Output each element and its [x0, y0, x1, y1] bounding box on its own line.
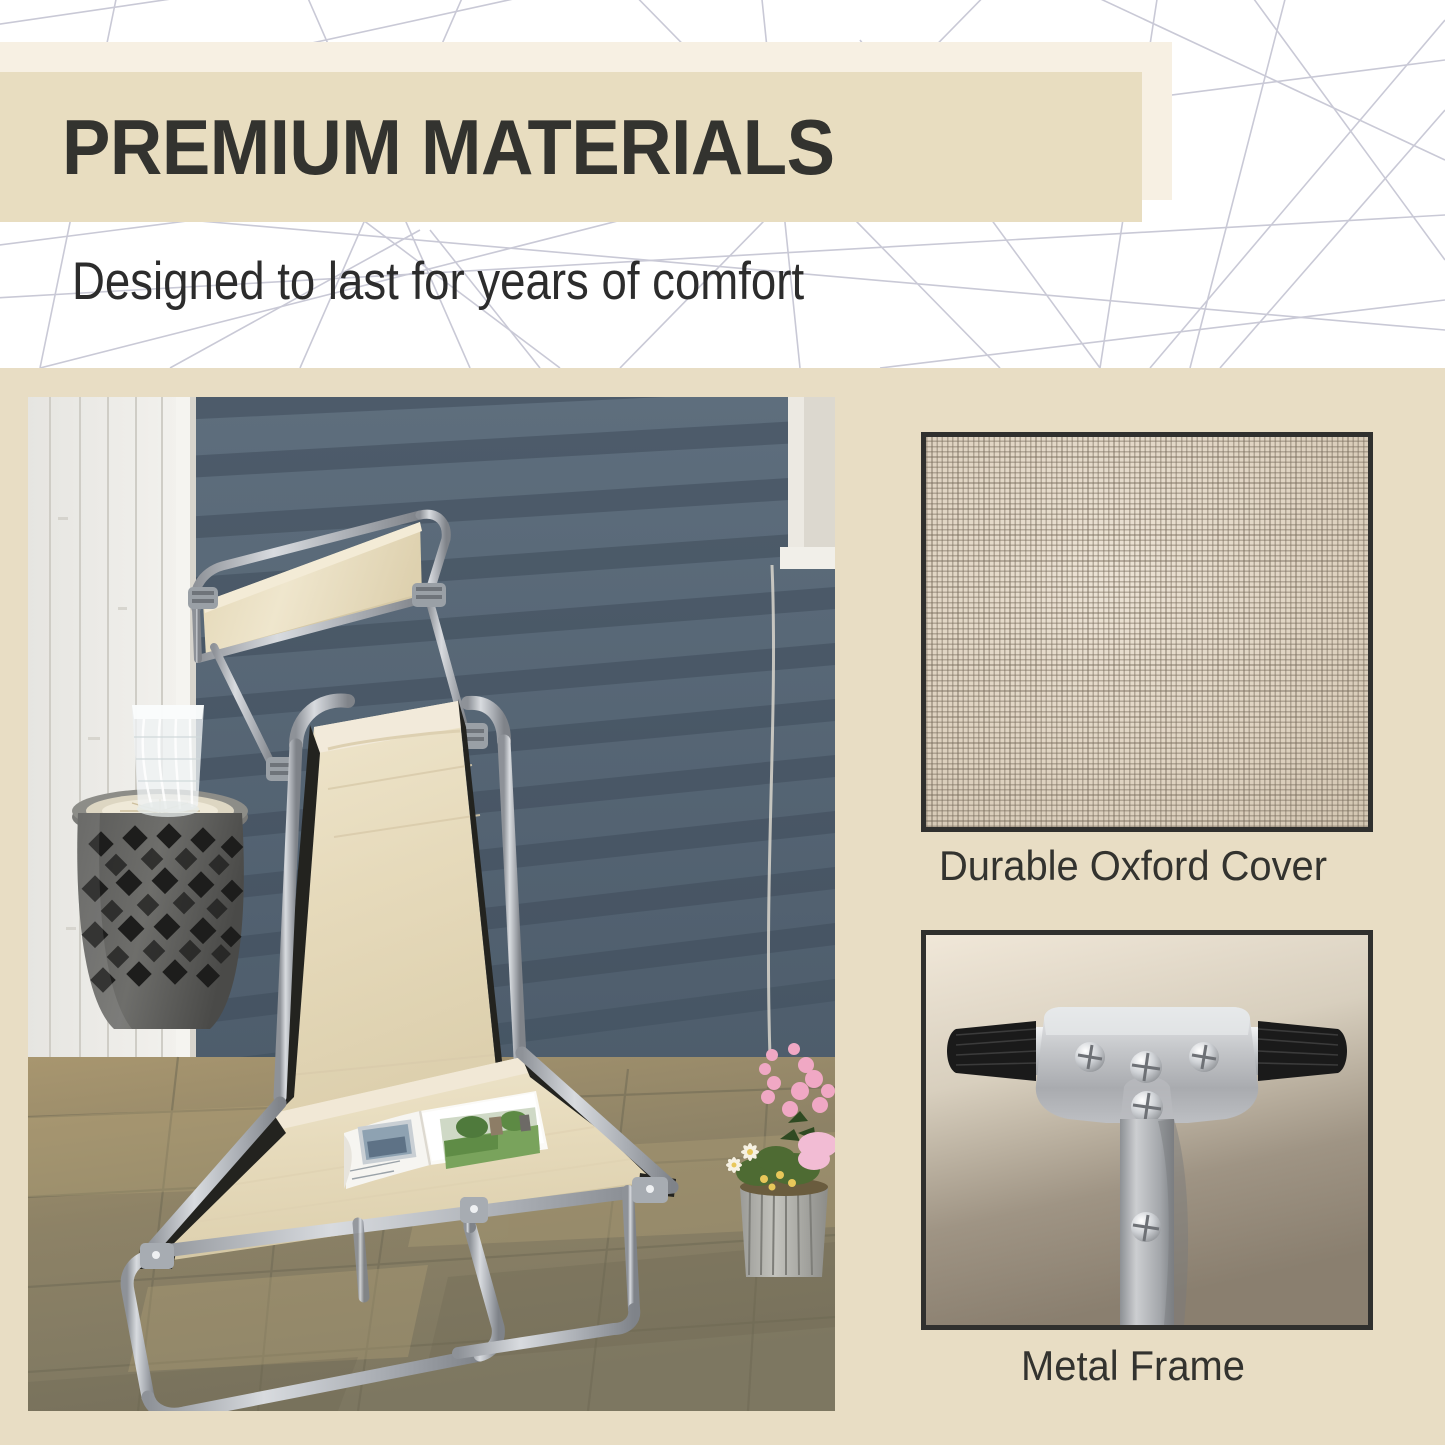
hero-product-photo — [28, 397, 835, 1411]
oxford-swatch-frame — [921, 432, 1373, 832]
header-section: PREMIUM MATERIALS Designed to last for y… — [0, 0, 1445, 368]
metal-swatch-frame — [921, 930, 1373, 1330]
oxford-fabric-swatch — [926, 437, 1368, 827]
metal-bracket-photo — [926, 935, 1368, 1325]
page-subtitle: Designed to last for years of comfort — [72, 250, 804, 314]
oxford-weave-texture — [926, 437, 1368, 827]
metal-caption: Metal Frame — [905, 1340, 1361, 1392]
hero-illustration — [28, 397, 835, 1411]
infographic-page: PREMIUM MATERIALS Designed to last for y… — [0, 0, 1445, 1445]
feature-panel-metal: Metal Frame — [893, 930, 1373, 1392]
side-table — [72, 789, 248, 1029]
drinking-glass — [132, 705, 204, 817]
page-title: PREMIUM MATERIALS — [62, 83, 835, 211]
feature-panel-oxford: Durable Oxford Cover — [893, 432, 1373, 862]
oxford-caption: Durable Oxford Cover — [905, 840, 1361, 892]
content-section: Durable Oxford Cover — [0, 368, 1445, 1445]
